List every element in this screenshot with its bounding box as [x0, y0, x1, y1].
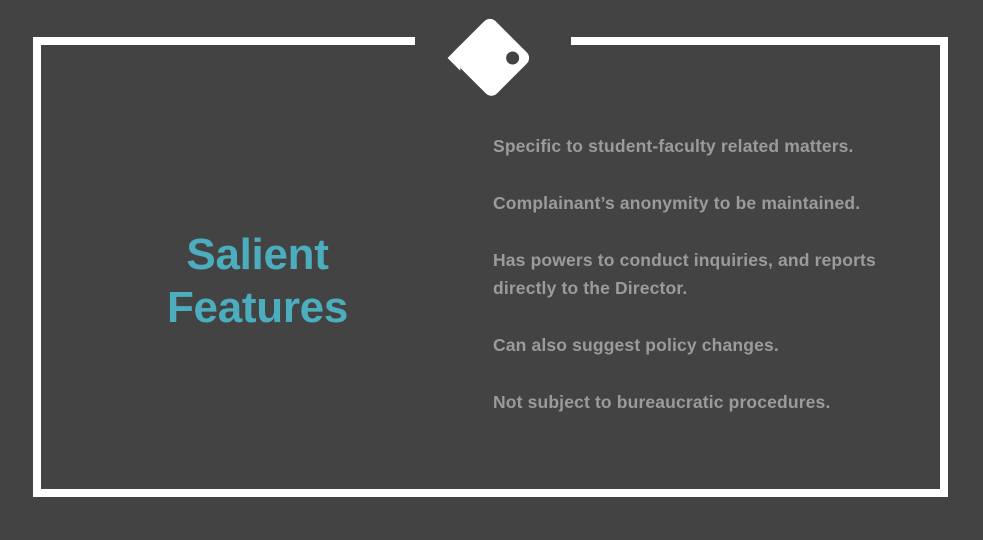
- list-item: Not subject to bureaucratic procedures.: [493, 388, 923, 416]
- frame-border-top-right: [571, 37, 948, 45]
- list-item: Specific to student-faculty related matt…: [493, 132, 923, 160]
- frame-border-left: [33, 37, 41, 497]
- list-item: Can also suggest policy changes.: [493, 331, 923, 359]
- list-item: Has powers to conduct inquiries, and rep…: [493, 246, 923, 302]
- title-block: Salient Features: [75, 228, 440, 334]
- page-title: Salient Features: [75, 228, 440, 334]
- frame-border-bottom: [33, 489, 948, 497]
- frame-border-top-left: [33, 37, 415, 45]
- slide-canvas: Salient Features Specific to student-fac…: [0, 0, 983, 540]
- list-item: Complainant’s anonymity to be maintained…: [493, 189, 923, 217]
- features-list: Specific to student-faculty related matt…: [493, 132, 923, 416]
- tag-icon: [440, 8, 540, 108]
- frame-border-right: [940, 37, 948, 497]
